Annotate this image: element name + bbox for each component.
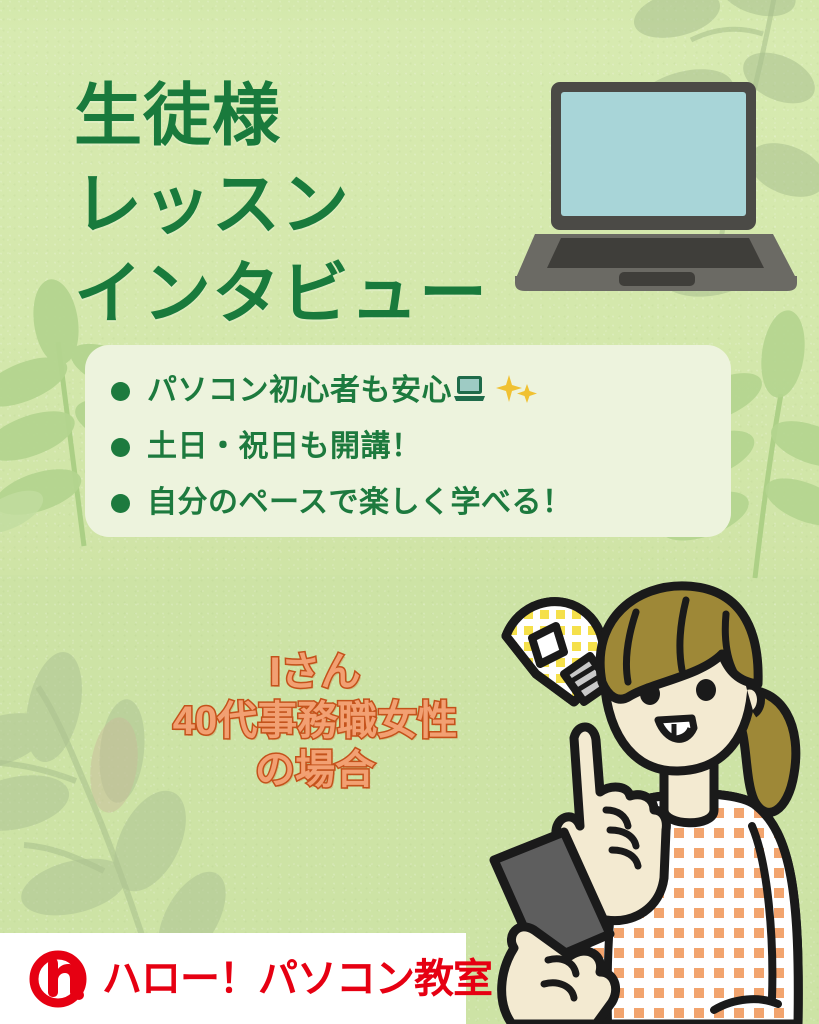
hello-pc-logo-mark-icon bbox=[29, 950, 87, 1008]
bullet-dot-icon bbox=[111, 382, 130, 401]
brand-name: ハロー！パソコン教室 bbox=[102, 957, 492, 1001]
benefit-label: 自分のペースで楽しく学べる！ bbox=[147, 488, 573, 518]
bullet-dot-icon bbox=[111, 494, 130, 513]
benefit-item: 土日・祝日も開講！ bbox=[111, 421, 731, 473]
eye-right bbox=[696, 679, 716, 701]
page-title: 生徒様 レッスン インタビュー bbox=[74, 72, 488, 339]
benefit-item: 自分のペースで楽しく学べる！ bbox=[111, 477, 731, 529]
benefit-label: パソコン初心者も安心 bbox=[147, 376, 452, 406]
woman-illustration bbox=[478, 578, 819, 1024]
interviewee-caption: Iさん 40代事務職女性 の場合 bbox=[150, 648, 480, 795]
laptop-emoji-icon bbox=[453, 374, 486, 409]
sparkles-emoji-icon bbox=[496, 374, 538, 409]
benefits-card: パソコン初心者も安心 土日・祝日も開講！ 自分のペースで楽しく学べ bbox=[85, 345, 731, 537]
benefit-label: 土日・祝日も開講！ bbox=[147, 432, 422, 462]
bullet-dot-icon bbox=[111, 438, 130, 457]
poster-canvas: 生徒様 レッスン インタビュー パソコン初心者も安心 土日・祝 bbox=[0, 0, 819, 1024]
benefit-item: パソコン初心者も安心 bbox=[111, 365, 731, 417]
laptop-illustration bbox=[515, 82, 800, 297]
eye-left bbox=[640, 683, 660, 705]
